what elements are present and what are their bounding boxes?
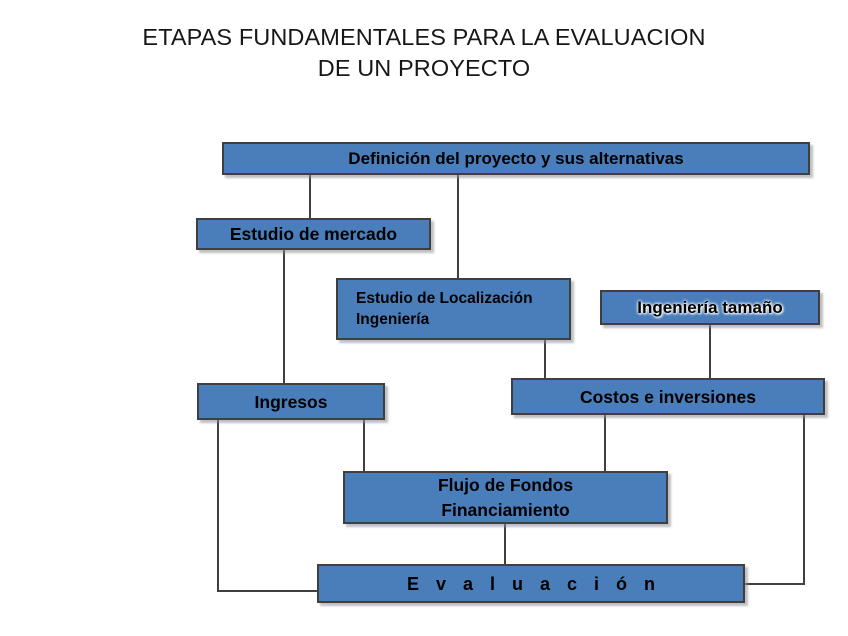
edge-ingresos-evaluacion	[218, 420, 330, 591]
node-ingresos[interactable]: Ingresos	[197, 383, 385, 420]
node-ingenieria-tamano[interactable]: Ingeniería tamaño	[600, 290, 820, 325]
node-label: Definición del proyecto y sus alternativ…	[348, 149, 683, 169]
node-label: Ingresos	[255, 392, 328, 412]
node-label: Flujo de Fondos Financiamiento	[438, 473, 573, 523]
node-flujo-fondos[interactable]: Flujo de Fondos Financiamiento	[343, 471, 668, 524]
node-label: Ingeniería tamaño	[637, 298, 782, 318]
node-label: Costos e inversiones	[580, 387, 756, 407]
node-costos-inversiones[interactable]: Costos e inversiones	[511, 378, 825, 415]
node-label: Estudio de Localización Ingeniería	[356, 288, 533, 330]
diagram-canvas: ETAPAS FUNDAMENTALES PARA LA EVALUACION …	[0, 0, 848, 636]
node-label: Estudio de mercado	[230, 224, 397, 244]
node-estudio-localizacion[interactable]: Estudio de Localización Ingeniería	[336, 278, 571, 340]
edge-costos-evaluacion	[735, 415, 804, 584]
node-evaluacion[interactable]: E v a l u a c i ó n	[317, 564, 745, 603]
node-estudio-mercado[interactable]: Estudio de mercado	[196, 218, 431, 250]
node-label: E v a l u a c i ó n	[401, 574, 661, 594]
node-definicion-proyecto[interactable]: Definición del proyecto y sus alternativ…	[222, 142, 810, 175]
